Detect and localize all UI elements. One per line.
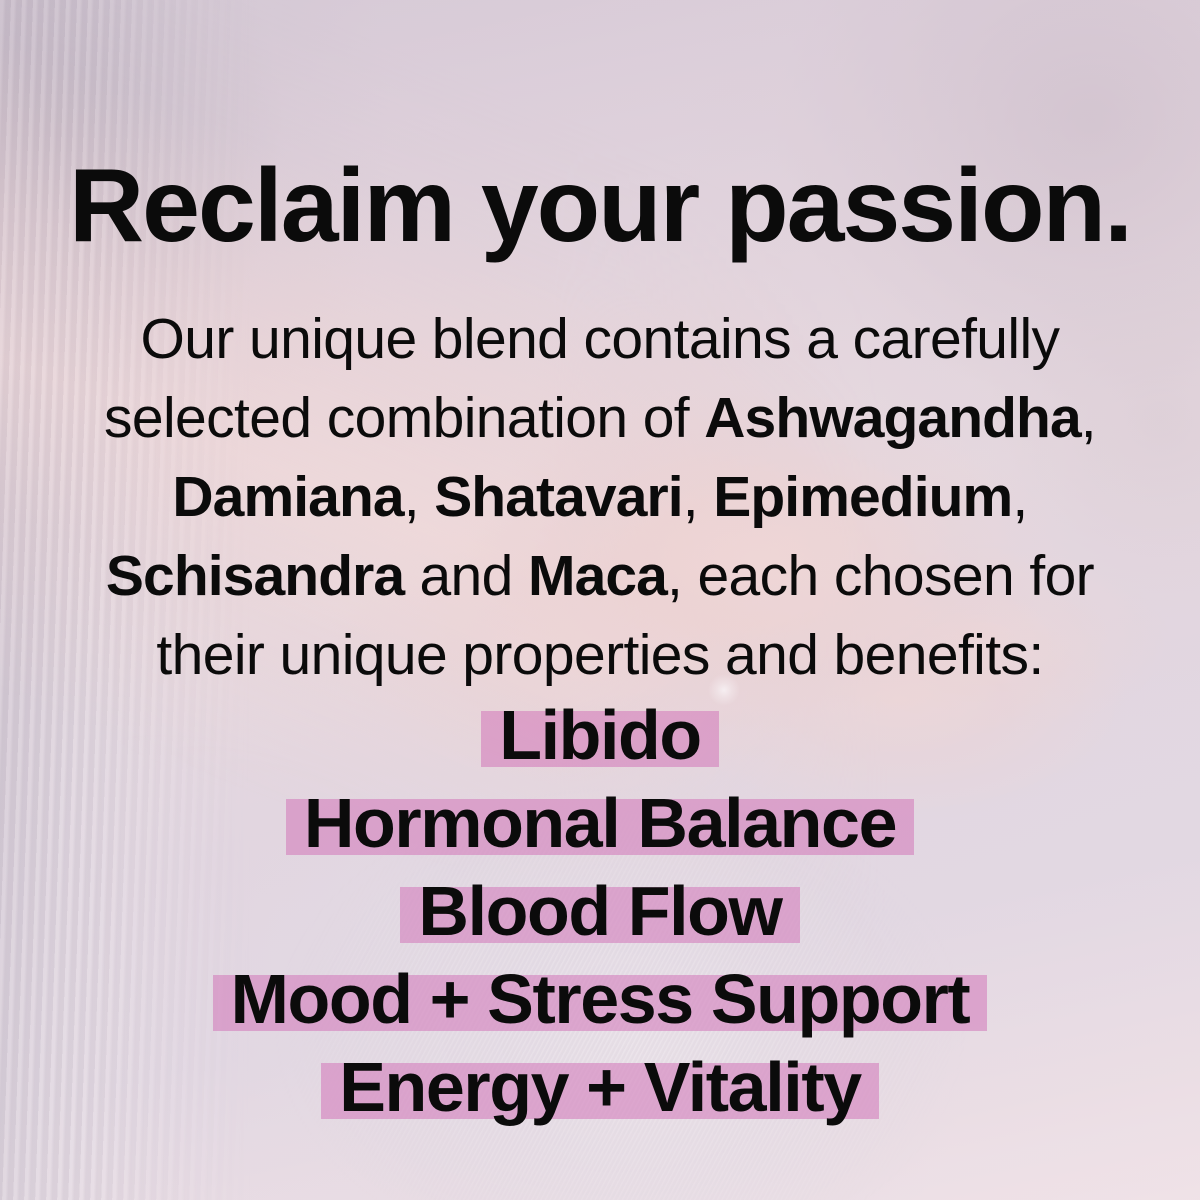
benefit-highlight: Hormonal Balance bbox=[286, 788, 914, 858]
benefits-list: Libido Hormonal Balance Blood Flow Mood … bbox=[0, 700, 1200, 1140]
promo-poster: Reclaim your passion. Our unique blend c… bbox=[0, 0, 1200, 1200]
benefit-highlight: Libido bbox=[481, 700, 719, 770]
headline: Reclaim your passion. bbox=[0, 154, 1200, 258]
benefit-label: Energy + Vitality bbox=[339, 1048, 861, 1126]
poster-content: Reclaim your passion. Our unique blend c… bbox=[0, 0, 1200, 1200]
benefit-row: Blood Flow bbox=[0, 876, 1200, 964]
benefit-label: Hormonal Balance bbox=[304, 784, 896, 862]
benefit-row: Mood + Stress Support bbox=[0, 964, 1200, 1052]
benefit-row: Hormonal Balance bbox=[0, 788, 1200, 876]
benefit-label: Blood Flow bbox=[418, 872, 781, 950]
body-copy: Our unique blend contains a carefully se… bbox=[50, 300, 1150, 695]
benefit-highlight: Energy + Vitality bbox=[321, 1052, 879, 1122]
benefit-label: Mood + Stress Support bbox=[231, 960, 970, 1038]
benefit-label: Libido bbox=[499, 696, 701, 774]
benefit-highlight: Blood Flow bbox=[400, 876, 799, 946]
benefit-row: Libido bbox=[0, 700, 1200, 788]
benefit-row: Energy + Vitality bbox=[0, 1052, 1200, 1140]
benefit-highlight: Mood + Stress Support bbox=[213, 964, 988, 1034]
